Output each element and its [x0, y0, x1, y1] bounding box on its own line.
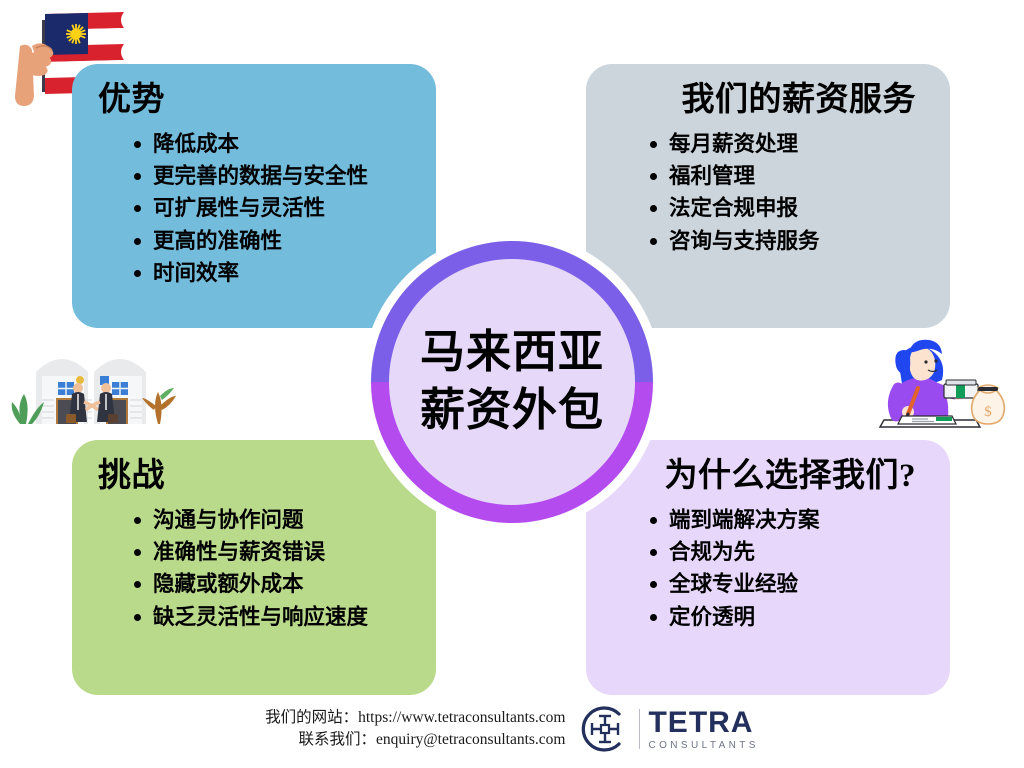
list-item: 沟通与协作问题 — [126, 504, 410, 536]
tetra-consultants-logo: TETRA CONSULTANTS — [579, 703, 758, 755]
infographic-canvas: $ 优势 降低成本 更完善的数据与安全性 可扩展性与灵活性 更高的准确性 时间效… — [0, 0, 1024, 768]
list-item: 降低成本 — [126, 128, 410, 160]
list-item: 福利管理 — [642, 160, 924, 192]
footer-email: 联系我们：enquiry@tetraconsultants.com — [265, 729, 565, 751]
list-item: 每月薪资处理 — [642, 128, 924, 160]
panel-advantages-list: 降低成本 更完善的数据与安全性 可扩展性与灵活性 更高的准确性 时间效率 — [126, 128, 410, 289]
panel-advantages-title: 优势 — [98, 82, 410, 119]
footer: 我们的网站：https://www.tetraconsultants.com 联… — [0, 698, 1024, 760]
list-item: 全球专业经验 — [642, 568, 924, 600]
panel-why-us: 为什么选择我们? 端到端解决方案 合规为先 全球专业经验 定价透明 — [586, 440, 950, 695]
svg-text:$: $ — [984, 404, 992, 420]
center-title-line-2: 薪资外包 — [420, 382, 604, 440]
list-item: 时间效率 — [126, 257, 410, 289]
business-handshake-icon — [8, 336, 176, 432]
footer-website: 我们的网站：https://www.tetraconsultants.com — [265, 707, 565, 729]
list-item: 更高的准确性 — [126, 225, 410, 257]
center-hub: 马来西亚 薪资外包 — [362, 232, 662, 532]
list-item: 隐藏或额外成本 — [126, 568, 410, 600]
panel-why-us-list: 端到端解决方案 合规为先 全球专业经验 定价透明 — [642, 504, 924, 633]
panel-advantages: 优势 降低成本 更完善的数据与安全性 可扩展性与灵活性 更高的准确性 时间效率 — [72, 64, 436, 328]
footer-contact-block: 我们的网站：https://www.tetraconsultants.com 联… — [265, 707, 565, 751]
list-item: 定价透明 — [642, 601, 924, 633]
center-disc: 马来西亚 薪资外包 — [389, 259, 635, 505]
tetra-emblem-icon — [579, 703, 631, 755]
panel-why-us-title: 为什么选择我们? — [612, 458, 924, 495]
list-item: 端到端解决方案 — [642, 504, 924, 536]
list-item: 咨询与支持服务 — [642, 225, 924, 257]
panel-services-title: 我们的薪资服务 — [612, 82, 924, 119]
panel-challenges: 挑战 沟通与协作问题 准确性与薪资错误 隐藏或额外成本 缺乏灵活性与响应速度 — [72, 440, 436, 695]
payroll-accountant-icon: $ — [868, 330, 1018, 434]
list-item: 准确性与薪资错误 — [126, 536, 410, 568]
logo-subtitle: CONSULTANTS — [648, 741, 758, 751]
panel-challenges-list: 沟通与协作问题 准确性与薪资错误 隐藏或额外成本 缺乏灵活性与响应速度 — [126, 504, 410, 633]
logo-divider — [639, 709, 640, 749]
logo-name: TETRA — [648, 708, 758, 738]
panel-challenges-title: 挑战 — [98, 458, 410, 495]
list-item: 法定合规申报 — [642, 192, 924, 224]
list-item: 更完善的数据与安全性 — [126, 160, 410, 192]
list-item: 合规为先 — [642, 536, 924, 568]
logo-wordmark: TETRA CONSULTANTS — [648, 708, 758, 751]
list-item: 可扩展性与灵活性 — [126, 192, 410, 224]
panel-services: 我们的薪资服务 每月薪资处理 福利管理 法定合规申报 咨询与支持服务 — [586, 64, 950, 328]
center-title-line-1: 马来西亚 — [420, 324, 604, 382]
panel-services-list: 每月薪资处理 福利管理 法定合规申报 咨询与支持服务 — [642, 128, 924, 257]
list-item: 缺乏灵活性与响应速度 — [126, 601, 410, 633]
